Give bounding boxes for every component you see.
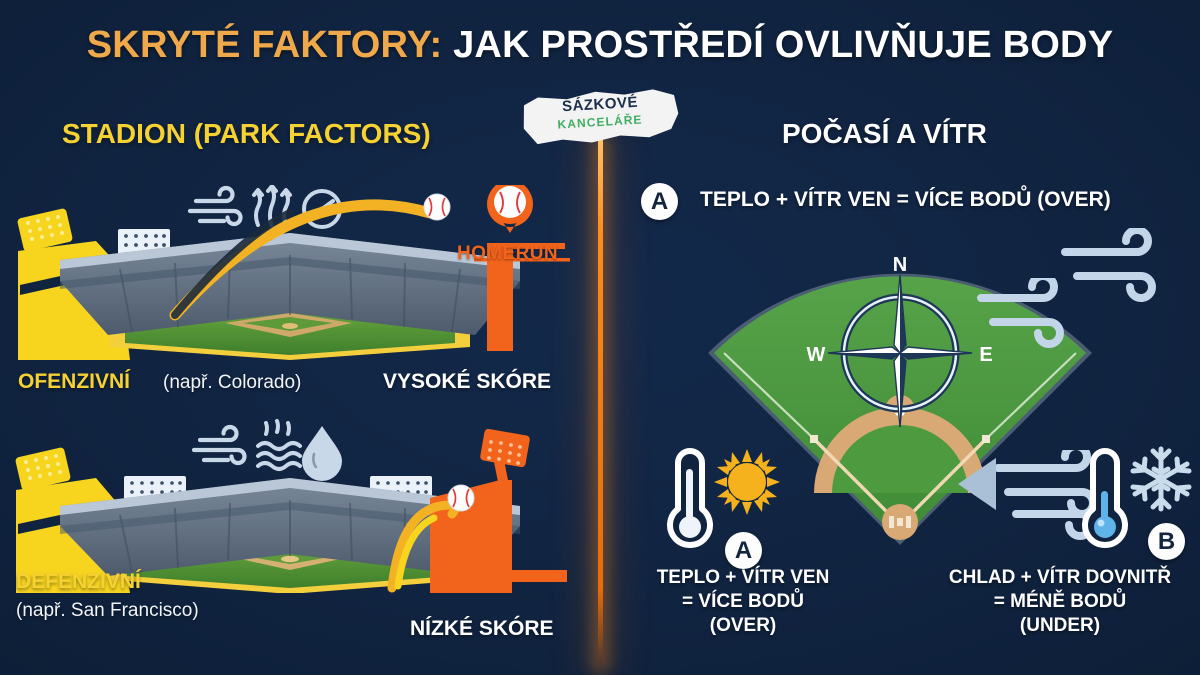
offensive-outcome: VYSOKÉ SKÓRE <box>383 370 551 394</box>
badge-a-case: A <box>725 532 762 569</box>
compass-label-north: N <box>893 254 907 276</box>
offensive-label-bold: OFENZIVNÍ <box>18 370 130 394</box>
snowflake-icon <box>1128 443 1194 515</box>
case-a-line-2: = VÍCE BODŮ <box>628 590 858 614</box>
page-title: SKRYTÉ FAKTORY: JAK PROSTŘEDÍ OVLIVŇUJE … <box>0 24 1200 67</box>
pitchers-mound <box>282 323 298 329</box>
center-divider <box>598 138 603 668</box>
badge-b-case: B <box>1148 523 1185 560</box>
base-third <box>810 435 818 443</box>
sun-icon <box>712 447 782 517</box>
offensive-label-note: (např. Colorado) <box>163 372 301 394</box>
baseball-icon <box>424 194 450 220</box>
weather-top-statement: TEPLO + VÍTR VEN = VÍCE BODŮ (OVER) <box>700 188 1111 212</box>
section-heading-stadium: STADION (PARK FACTORS) <box>62 118 431 150</box>
defensive-stadium-illustration <box>0 418 580 593</box>
section-heading-weather: POČASÍ A VÍTR <box>782 118 987 150</box>
homerun-pin-badge <box>487 185 533 233</box>
brand-logo: SÁZKOVÉ KANCELÁŘE <box>520 88 680 146</box>
wind-out-icon-2 <box>975 278 1095 368</box>
case-b-text: CHLAD + VÍTR DOVNITŘ = MÉNĚ BODŮ (UNDER) <box>920 566 1200 638</box>
case-b-line-2: = MÉNĚ BODŮ <box>920 590 1200 614</box>
compass-label-west: W <box>807 344 826 366</box>
case-b-line-3: (UNDER) <box>920 614 1200 638</box>
wind-icon <box>194 427 245 463</box>
wind-direction-arrow <box>958 458 996 510</box>
case-a-line-1: TEPLO + VÍTR VEN <box>628 566 858 590</box>
case-a-line-3: (OVER) <box>628 614 858 638</box>
page-title-rest: JAK PROSTŘEDÍ OVLIVŇUJE BODY <box>453 24 1113 66</box>
wind-icon <box>190 188 241 224</box>
page-title-highlight: SKRYTÉ FAKTORY: <box>87 24 443 66</box>
homerun-label: HOMERUN <box>457 243 558 265</box>
badge-a-top: A <box>641 183 678 220</box>
infographic-canvas: SKRYTÉ FAKTORY: JAK PROSTŘEDÍ OVLIVŇUJE … <box>0 0 1200 675</box>
offensive-stadium-illustration <box>0 185 580 360</box>
base-first <box>982 435 990 443</box>
defensive-outcome: NÍZKÉ SKÓRE <box>410 617 554 641</box>
baseball-icon <box>448 485 474 511</box>
thermometer-hot-icon <box>660 443 720 548</box>
defensive-label-note: (např. San Francisco) <box>16 600 199 622</box>
defensive-label-bold: DEFENZIVNÍ <box>16 570 141 594</box>
humidity-waves-icon <box>258 421 300 469</box>
case-a-text: TEPLO + VÍTR VEN = VÍCE BODŮ (OVER) <box>628 566 858 638</box>
water-drop-icon <box>302 426 342 481</box>
pitchers-mound <box>281 556 299 562</box>
case-b-line-1: CHLAD + VÍTR DOVNITŘ <box>920 566 1200 590</box>
right-orange-base <box>497 570 567 582</box>
floodlight-right-icon <box>480 428 531 492</box>
thermometer-cold-icon <box>1075 443 1135 548</box>
